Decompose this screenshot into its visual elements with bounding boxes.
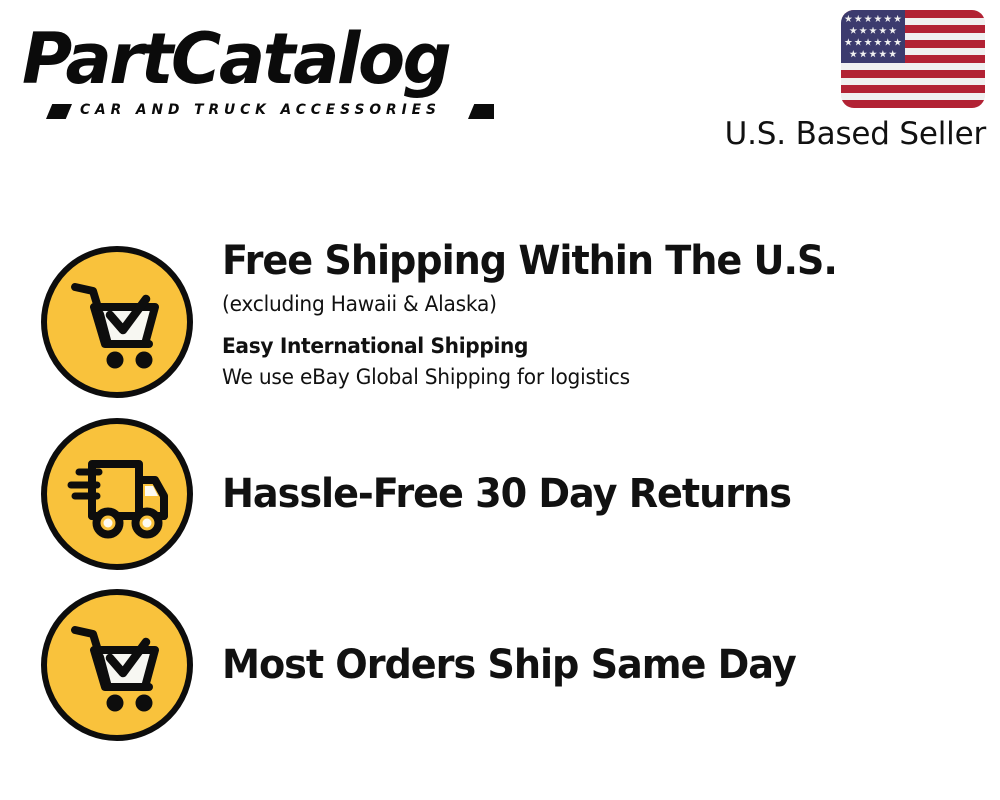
- feature-subtitle-logistics: We use eBay Global Shipping for logistic…: [222, 362, 952, 392]
- brand-logo: PartCatalog CAR AND TRUCK ACCESSORIES: [22, 22, 492, 114]
- flag-star: [859, 50, 867, 58]
- flag-canton: [841, 10, 905, 63]
- feature-subtitle-exclusions: (excluding Hawaii & Alaska): [222, 289, 952, 319]
- flag-star: [864, 38, 872, 46]
- flag-star: [864, 15, 872, 23]
- flag-star: [874, 38, 882, 46]
- brand-tagline: CAR AND TRUCK ACCESSORIES: [80, 102, 441, 118]
- brand-wordmark: PartCatalog: [22, 22, 449, 96]
- feature-title: Hassle-Free 30 Day Returns: [222, 470, 948, 518]
- flag-star: [854, 15, 862, 23]
- delivery-truck-icon: [41, 418, 193, 570]
- flag-star: [889, 50, 897, 58]
- feature-text-block: Hassle-Free 30 Day Returns: [222, 470, 982, 518]
- tagline-wedge-right-icon: [468, 104, 494, 119]
- feature-item-free-shipping: Free Shipping Within The U.S. (excluding…: [0, 235, 1000, 407]
- flag-star: [849, 50, 857, 58]
- feature-title: Free Shipping Within The U.S.: [222, 237, 948, 285]
- flag-star: [869, 50, 877, 58]
- flag-stripe: [841, 100, 985, 108]
- shopping-cart-check-icon: [41, 246, 193, 398]
- flag-star: [894, 38, 902, 46]
- page-header: PartCatalog CAR AND TRUCK ACCESSORIES U.…: [0, 0, 1000, 170]
- flag-star: [884, 38, 892, 46]
- flag-star: [879, 27, 887, 35]
- feature-text-block: Most Orders Ship Same Day: [222, 641, 982, 689]
- feature-subtitle-international: Easy International Shipping: [222, 331, 952, 361]
- flag-star: [874, 15, 882, 23]
- feature-item-same-day: Most Orders Ship Same Day: [0, 589, 1000, 741]
- flag-star: [849, 27, 857, 35]
- feature-item-returns: Hassle-Free 30 Day Returns: [0, 418, 1000, 570]
- flag-star: [869, 27, 877, 35]
- flag-star: [844, 38, 852, 46]
- flag-star: [889, 27, 897, 35]
- us-flag-icon: [841, 10, 985, 108]
- flag-star: [884, 15, 892, 23]
- shopping-cart-check-icon: [41, 589, 193, 741]
- tagline-wedge-left-icon: [46, 104, 72, 119]
- flag-star: [859, 27, 867, 35]
- flag-star: [844, 15, 852, 23]
- flag-star: [854, 38, 862, 46]
- seller-location-label: U.S. Based Seller: [722, 116, 986, 152]
- feature-text-block: Free Shipping Within The U.S. (excluding…: [222, 237, 982, 392]
- flag-star: [894, 15, 902, 23]
- feature-title: Most Orders Ship Same Day: [222, 641, 948, 689]
- flag-star: [879, 50, 887, 58]
